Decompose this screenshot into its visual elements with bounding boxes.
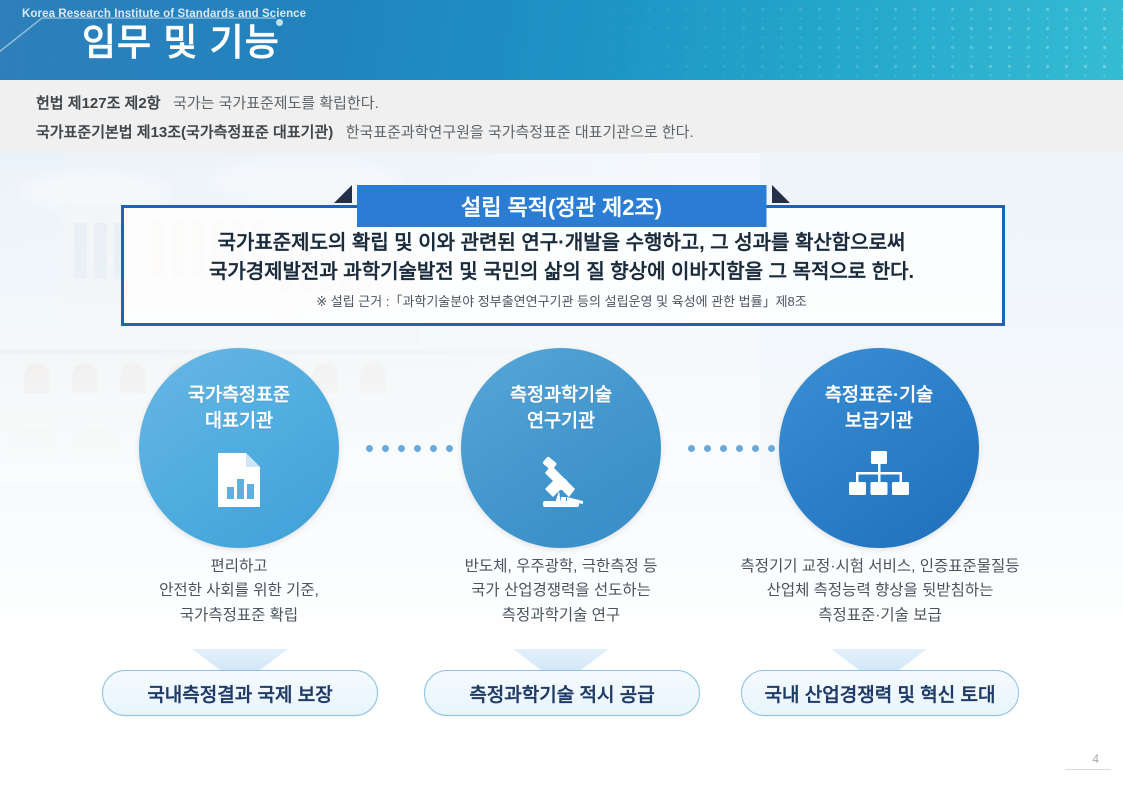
org-chart-icon [848, 451, 910, 504]
legal-line-2-label: 국가표준기본법 제13조(국가측정표준 대표기관) [36, 124, 333, 141]
purpose-statement-text: 국가표준제도의 확립 및 이와 관련된 연구·개발을 수행하고, 그 성과를 확… [0, 229, 1123, 287]
legal-line-2-body: 한국표준과학연구원을 국가측정표준 대표기관으로 한다. [346, 124, 694, 141]
legal-line-2: 국가표준기본법 제13조(국가측정표준 대표기관) 한국표준과학연구원을 국가측… [36, 121, 694, 142]
page-number: 4 [1092, 752, 1099, 766]
legal-line-1-label: 헌법 제127조 제2항 [36, 95, 161, 112]
document-bar-chart-icon [214, 451, 264, 514]
connector-dots-1 [366, 445, 453, 452]
organization-name: Korea Research Institute of Standards an… [22, 8, 306, 20]
legal-line-1-body: 국가는 국가표준제도를 확립한다. [173, 95, 379, 112]
outcome-pill-1[interactable]: 국내측정결과 국제 보장 [102, 670, 378, 716]
page-title: 임무 및 기능 [82, 22, 280, 65]
pillar-circle-3-title: 측정표준·기술 보급기관 [825, 382, 933, 433]
pillar-circle-3[interactable]: 측정표준·기술 보급기관 [779, 348, 979, 548]
header-halftone-pattern-secondary [563, 9, 1123, 80]
outcome-pill-3[interactable]: 국내 산업경쟁력 및 혁신 토대 [741, 670, 1019, 716]
legal-basis-band: 헌법 제127조 제2항 국가는 국가표준제도를 확립한다. 국가표준기본법 제… [0, 80, 1123, 153]
pillar-description-1: 편리하고 안전한 사회를 위한 기준, 국가측정표준 확립 [99, 555, 379, 628]
pillar-circle-2-title: 측정과학기술 연구기관 [510, 382, 612, 433]
slide-header: Korea Research Institute of Standards an… [0, 0, 1123, 80]
pillar-circle-1[interactable]: 국가측정표준 대표기관 [139, 348, 339, 548]
page-number-rule [1065, 769, 1111, 770]
purpose-statement-line-2: 국가경제발전과 과학기술발전 및 국민의 삶의 질 향상에 이바지함을 그 목적… [0, 258, 1123, 287]
purpose-statement-line-1: 국가표준제도의 확립 및 이와 관련된 연구·개발을 수행하고, 그 성과를 확… [0, 229, 1123, 258]
pillar-description-3: 측정기기 교정·시험 서비스, 인증표준물질등 산업체 측정능력 향상을 뒷받침… [700, 555, 1060, 628]
legal-line-1: 헌법 제127조 제2항 국가는 국가표준제도를 확립한다. [36, 92, 379, 113]
ribbon-fold-right-icon [772, 185, 790, 203]
slide-body: 설립 목적(정관 제2조) 국가표준제도의 확립 및 이와 관련된 연구·개발을… [0, 153, 1123, 794]
pillar-circle-1-title: 국가측정표준 대표기관 [188, 382, 290, 433]
pillar-circle-2[interactable]: 측정과학기술 연구기관 [461, 348, 661, 548]
pillar-description-2: 반도체, 우주광학, 극한측정 등 국가 산업경쟁력을 선도하는 측정과학기술 … [416, 555, 706, 628]
slide-root: Korea Research Institute of Standards an… [0, 0, 1123, 794]
outcome-pill-2[interactable]: 측정과학기술 적시 공급 [424, 670, 700, 716]
purpose-legal-note: ※ 설립 근거 :「과학기술분야 정부출연연구기관 등의 설립운영 및 육성에 … [0, 291, 1123, 310]
purpose-ribbon-title: 설립 목적(정관 제2조) [357, 185, 767, 227]
ribbon-fold-left-icon [334, 185, 352, 203]
microscope-icon [531, 451, 591, 514]
connector-dots-2 [688, 445, 775, 452]
